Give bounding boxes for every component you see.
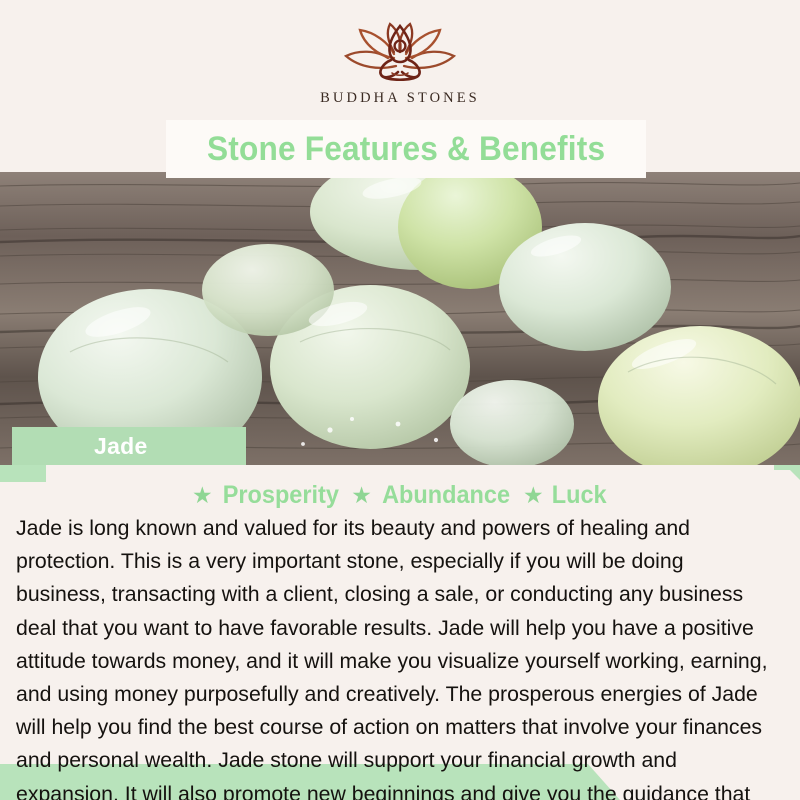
benefits-row: ★ Prosperity ★ Abundance ★ Luck xyxy=(0,478,800,512)
star-icon: ★ xyxy=(351,484,372,507)
benefit-label: Prosperity xyxy=(222,481,338,510)
benefit-label: Luck xyxy=(551,481,606,510)
star-icon: ★ xyxy=(192,484,213,507)
benefit-label: Abundance xyxy=(382,481,510,510)
stone-name-label: Jade xyxy=(12,427,246,465)
page-title: Stone Features & Benefits xyxy=(207,130,605,169)
star-icon: ★ xyxy=(523,484,544,507)
stone-description: Jade is long known and valued for its be… xyxy=(16,511,778,800)
lotus-meditation-icon xyxy=(336,22,464,84)
benefit-item-luck: ★ Luck xyxy=(523,481,608,510)
hero-photo xyxy=(0,172,800,465)
title-banner: Stone Features & Benefits xyxy=(166,120,646,178)
brand-name: BUDDHA STONES xyxy=(320,90,480,107)
benefit-item-abundance: ★ Abundance xyxy=(351,481,514,510)
infographic-page: BUDDHA STONES xyxy=(0,0,800,800)
benefit-item-prosperity: ★ Prosperity xyxy=(192,481,342,510)
stone-name-text: Jade xyxy=(94,433,148,460)
